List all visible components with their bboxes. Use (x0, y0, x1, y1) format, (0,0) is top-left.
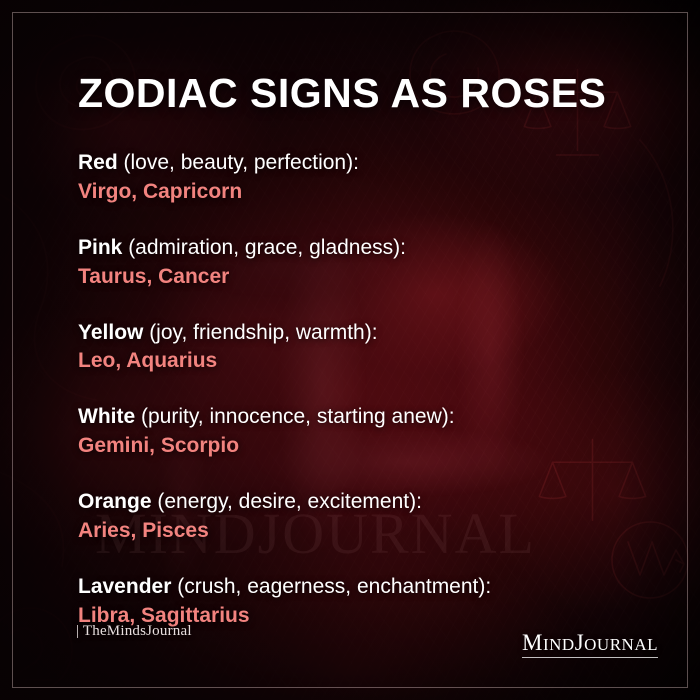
entry-heading: Yellow (joy, friendship, warmth): (78, 320, 678, 347)
mindjournal-logo: MINDJOURNAL (522, 630, 658, 658)
rose-color-name: White (78, 405, 135, 428)
zodiac-signs: Aries, Pisces (78, 518, 678, 545)
rose-color-name: Orange (78, 490, 152, 513)
zodiac-signs: Gemini, Scorpio (78, 433, 678, 460)
list-item: Lavender (crush, eagerness, enchantment)… (78, 574, 678, 630)
attribution-credit: | TheMindsJournal (76, 623, 192, 640)
list-item: Red (love, beauty, perfection): Virgo, C… (78, 150, 678, 206)
rose-color-meanings: (crush, eagerness, enchantment): (171, 575, 491, 598)
rose-color-meanings: (love, beauty, perfection): (118, 151, 359, 174)
zodiac-signs: Leo, Aquarius (78, 348, 678, 375)
rose-color-meanings: (energy, desire, excitement): (152, 490, 422, 513)
rose-color-meanings: (purity, innocence, starting anew): (135, 405, 454, 428)
entry-heading: Pink (admiration, grace, gladness): (78, 235, 678, 262)
brand-letters-ournal: OURNAL (584, 635, 658, 654)
rose-color-name: Yellow (78, 321, 143, 344)
list-item: Orange (energy, desire, excitement): Ari… (78, 489, 678, 545)
rose-color-meanings: (admiration, grace, gladness): (122, 236, 406, 259)
rose-color-name: Red (78, 151, 118, 174)
rose-color-meanings: (joy, friendship, warmth): (143, 321, 377, 344)
rose-color-name: Lavender (78, 575, 171, 598)
list-item: White (purity, innocence, starting anew)… (78, 404, 678, 460)
zodiac-signs: Virgo, Capricorn (78, 179, 678, 206)
entry-heading: Orange (energy, desire, excitement): (78, 489, 678, 516)
entry-heading: White (purity, innocence, starting anew)… (78, 404, 678, 431)
page-title: ZODIAC SIGNS AS ROSES (78, 70, 606, 117)
list-item: Yellow (joy, friendship, warmth): Leo, A… (78, 320, 678, 376)
brand-letters-ind: IND (543, 635, 575, 654)
list-item: Pink (admiration, grace, gladness): Taur… (78, 235, 678, 291)
brand-letter-m: M (522, 630, 543, 655)
zodiac-signs: Taurus, Cancer (78, 264, 678, 291)
zodiac-entry-list: Red (love, beauty, perfection): Virgo, C… (78, 150, 678, 659)
entry-heading: Lavender (crush, eagerness, enchantment)… (78, 574, 678, 601)
brand-letter-j: J (575, 630, 584, 655)
brand-underline (522, 657, 658, 658)
poster-content: ZODIAC SIGNS AS ROSES Red (love, beauty,… (0, 0, 700, 700)
zodiac-roses-poster: MINDJOURNAL ZODIAC SIGNS AS ROSES Red (l… (0, 0, 700, 700)
brand-wordmark: MINDJOURNAL (522, 630, 658, 656)
entry-heading: Red (love, beauty, perfection): (78, 150, 678, 177)
rose-color-name: Pink (78, 236, 122, 259)
